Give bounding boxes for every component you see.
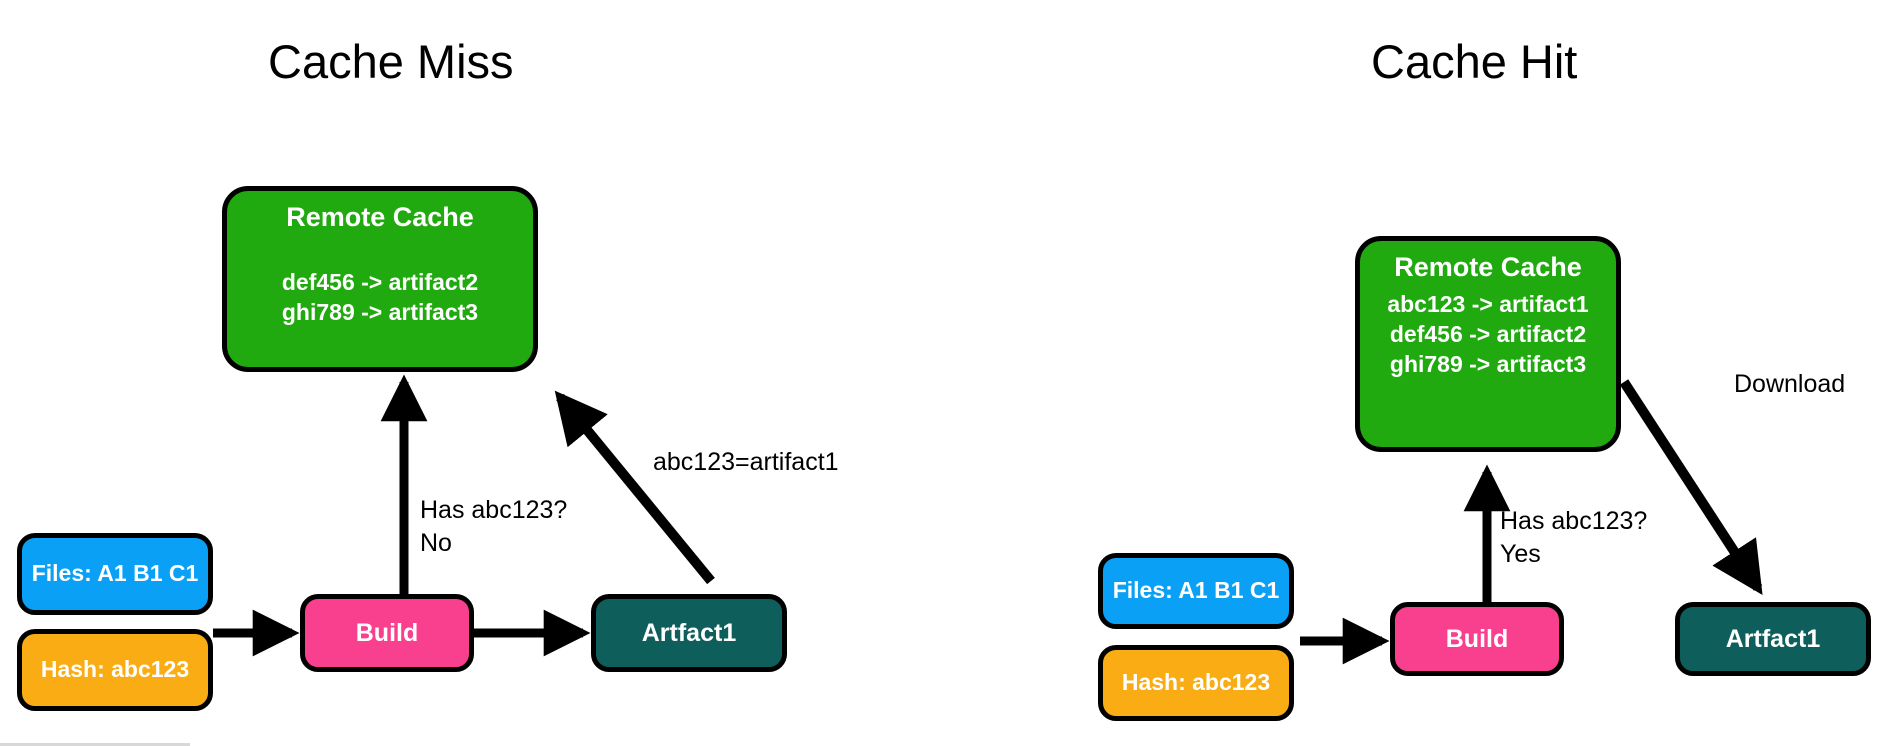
arrow-artifact-to-cache bbox=[560, 397, 711, 581]
page-title-cache-hit: Cache Hit bbox=[1371, 38, 1577, 85]
node-build-miss: Build bbox=[300, 594, 474, 672]
edge-label-build-to-cache-hit: Has abc123? Yes bbox=[1500, 505, 1647, 571]
edge-label-download: Download bbox=[1734, 368, 1845, 401]
remote-cache-title: Remote Cache bbox=[1394, 251, 1582, 283]
node-hash-label: Hash: abc123 bbox=[41, 656, 189, 684]
node-remote-cache-miss: Remote Cache def456 -> artifact2 ghi789 … bbox=[222, 186, 538, 372]
remote-cache-entries: def456 -> artifact2 ghi789 -> artifact3 bbox=[282, 269, 478, 326]
page-title-cache-miss: Cache Miss bbox=[268, 38, 514, 85]
node-artifact-label: Artfact1 bbox=[1726, 624, 1820, 654]
node-files-miss: Files: A1 B1 C1 bbox=[17, 533, 213, 615]
node-artifact-miss: Artfact1 bbox=[591, 594, 787, 672]
node-files-label: Files: A1 B1 C1 bbox=[1113, 577, 1280, 605]
diagram-canvas: Cache Miss Remote Cache def456 -> artifa… bbox=[0, 0, 1894, 746]
node-build-label: Build bbox=[1446, 624, 1509, 654]
node-hash-label: Hash: abc123 bbox=[1122, 669, 1270, 697]
edge-label-artifact-to-cache-miss: abc123=artifact1 bbox=[653, 446, 839, 479]
cache-entry: def456 -> artifact2 bbox=[1390, 321, 1586, 349]
cache-entry: ghi789 -> artifact3 bbox=[1390, 351, 1586, 379]
node-files-hit: Files: A1 B1 C1 bbox=[1098, 553, 1294, 629]
node-artifact-hit: Artfact1 bbox=[1675, 602, 1871, 676]
node-hash-hit: Hash: abc123 bbox=[1098, 645, 1294, 721]
cache-entry: ghi789 -> artifact3 bbox=[282, 299, 478, 327]
node-remote-cache-hit: Remote Cache abc123 -> artifact1 def456 … bbox=[1355, 236, 1621, 452]
node-hash-miss: Hash: abc123 bbox=[17, 629, 213, 711]
remote-cache-entries: abc123 -> artifact1 def456 -> artifact2 … bbox=[1387, 291, 1588, 378]
node-build-label: Build bbox=[356, 618, 419, 648]
node-files-label: Files: A1 B1 C1 bbox=[32, 560, 199, 588]
remote-cache-title: Remote Cache bbox=[286, 201, 474, 233]
cache-entry: abc123 -> artifact1 bbox=[1387, 291, 1588, 319]
node-build-hit: Build bbox=[1390, 602, 1564, 676]
node-artifact-label: Artfact1 bbox=[642, 618, 736, 648]
cache-entry: def456 -> artifact2 bbox=[282, 269, 478, 297]
edge-label-build-to-cache-miss: Has abc123? No bbox=[420, 494, 567, 560]
